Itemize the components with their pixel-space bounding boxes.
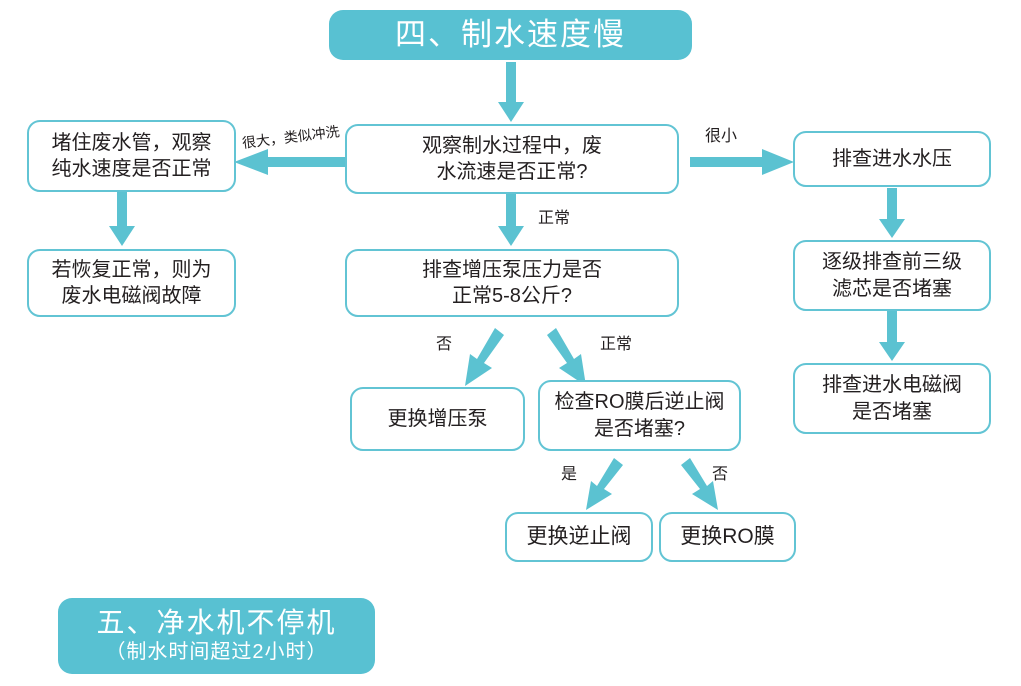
- arrow-inlet-pressure-to-three-filters: [879, 188, 905, 240]
- node-waste-solenoid-fault[interactable]: 若恢复正常，则为 废水电磁阀故障: [27, 249, 236, 317]
- node-replace-booster-pump[interactable]: 更换增压泵: [350, 387, 525, 451]
- edge-label-normal-to-pump: 正常: [538, 211, 570, 227]
- edge-label-valve-no: 否: [712, 467, 728, 483]
- banner-top-main-text: 四、制水速度慢: [395, 18, 626, 53]
- node-replace-ro-membrane[interactable]: 更换RO膜: [659, 512, 796, 562]
- node-observe-waste-flow[interactable]: 观察制水过程中，废 水流速是否正常?: [345, 124, 679, 194]
- edge-label-pump-no: 否: [436, 337, 452, 353]
- flowchart-canvas: 四、制水速度慢: [0, 0, 1021, 686]
- node-check-inlet-solenoid[interactable]: 排查进水电磁阀 是否堵塞: [793, 363, 991, 434]
- edge-label-very-small: 很小: [705, 129, 737, 145]
- arrow-pump-to-replace-pump: [462, 328, 504, 386]
- node-check-three-filters[interactable]: 逐级排查前三级 滤芯是否堵塞: [793, 240, 991, 311]
- arrow-block-pipe-to-solenoid-fault: [109, 192, 135, 248]
- banner-bottom-main-text: 五、净水机不停机: [96, 605, 336, 640]
- arrow-three-filters-to-inlet-solenoid: [879, 311, 905, 363]
- node-check-booster-pump[interactable]: 排查增压泵压力是否 正常5-8公斤?: [345, 249, 679, 317]
- section-title-banner-five: 五、净水机不停机 （制水时间超过2小时）: [58, 598, 375, 674]
- arrow-observe-to-inlet-pressure: [690, 148, 794, 176]
- edge-label-valve-yes: 是: [561, 467, 577, 483]
- arrow-observe-to-block-waste-pipe: [234, 148, 346, 176]
- node-block-waste-pipe[interactable]: 堵住废水管，观察 纯水速度是否正常: [27, 120, 236, 192]
- arrow-title-to-observe: [498, 62, 524, 124]
- section-title-banner-four: 四、制水速度慢: [329, 10, 692, 60]
- banner-bottom-sub-text: （制水时间超过2小时）: [105, 640, 327, 665]
- arrow-valve-to-replace-check-valve: [583, 458, 623, 510]
- node-check-inlet-pressure[interactable]: 排查进水水压: [793, 131, 991, 187]
- edge-label-pump-normal: 正常: [600, 337, 632, 353]
- edge-label-very-large: 很大，类似冲洗: [241, 124, 340, 150]
- arrow-observe-to-booster-pump: [498, 190, 524, 248]
- node-check-check-valve[interactable]: 检查RO膜后逆止阀 是否堵塞?: [538, 380, 741, 451]
- node-replace-check-valve[interactable]: 更换逆止阀: [505, 512, 653, 562]
- arrow-pump-to-check-valve: [547, 328, 589, 386]
